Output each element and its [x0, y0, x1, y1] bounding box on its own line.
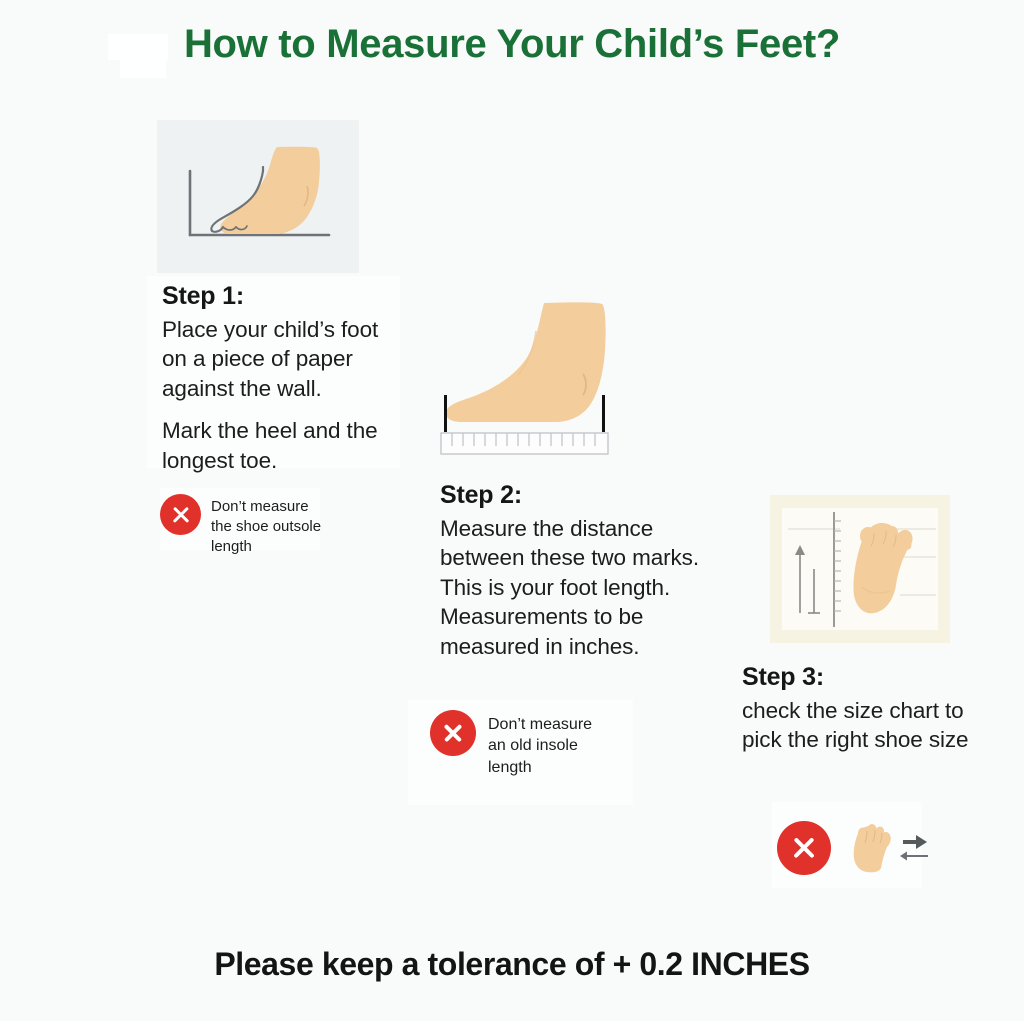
- step-2-warning: Don’t measure an old insole length: [430, 710, 645, 778]
- step-3-warning: [777, 820, 937, 876]
- step-3-body: check the size chart to pick the right s…: [742, 696, 972, 755]
- step-2-body: Measure the distance between these two m…: [440, 514, 740, 661]
- arrow-left-icon: [900, 852, 928, 861]
- step-2-warning-text: Don’t measure an old insole length: [488, 710, 613, 778]
- step-1-body: Place your child’s foot on a piece of pa…: [162, 315, 392, 475]
- infographic-page: How to Measure Your Child’s Feet? Step 1…: [0, 0, 1024, 1021]
- step-1-text: Step 1: Place your child’s foot on a pie…: [162, 282, 392, 475]
- sole-with-arrows-icon: [841, 820, 933, 876]
- step-1-paragraph: Mark the heel and the longest toe.: [162, 416, 392, 475]
- red-x-circle-icon: [430, 710, 476, 756]
- step-1-illustration: [157, 120, 359, 273]
- tolerance-note: Please keep a tolerance of + 0.2 INCHES: [0, 946, 1024, 983]
- page-title: How to Measure Your Child’s Feet?: [0, 22, 1024, 67]
- step-2-text: Step 2: Measure the distance between the…: [440, 481, 740, 661]
- step-3-illustration: [770, 495, 950, 643]
- step-3-warning-graphic: [841, 820, 933, 876]
- step-1-warning-text: Don’t measure the shoe outsole length: [211, 494, 331, 557]
- sole-with-ruler-icon: [770, 495, 950, 643]
- step-3-heading: Step 3:: [742, 663, 972, 692]
- foot-against-wall-icon: [157, 120, 359, 273]
- step-2-paragraph: Measure the distance between these two m…: [440, 514, 740, 661]
- step-3-paragraph: check the size chart to pick the right s…: [742, 696, 972, 755]
- red-x-circle-icon: [160, 494, 201, 535]
- arrow-right-icon: [903, 835, 927, 849]
- step-1-heading: Step 1:: [162, 282, 392, 311]
- step-2-heading: Step 2:: [440, 481, 740, 510]
- foot-on-ruler-icon: [432, 285, 647, 460]
- red-x-circle-icon: [777, 821, 831, 875]
- step-1-paragraph: Place your child’s foot on a piece of pa…: [162, 315, 392, 403]
- step-2-illustration: [432, 285, 647, 460]
- step-3-text: Step 3: check the size chart to pick the…: [742, 663, 972, 755]
- step-1-warning: Don’t measure the shoe outsole length: [160, 494, 370, 557]
